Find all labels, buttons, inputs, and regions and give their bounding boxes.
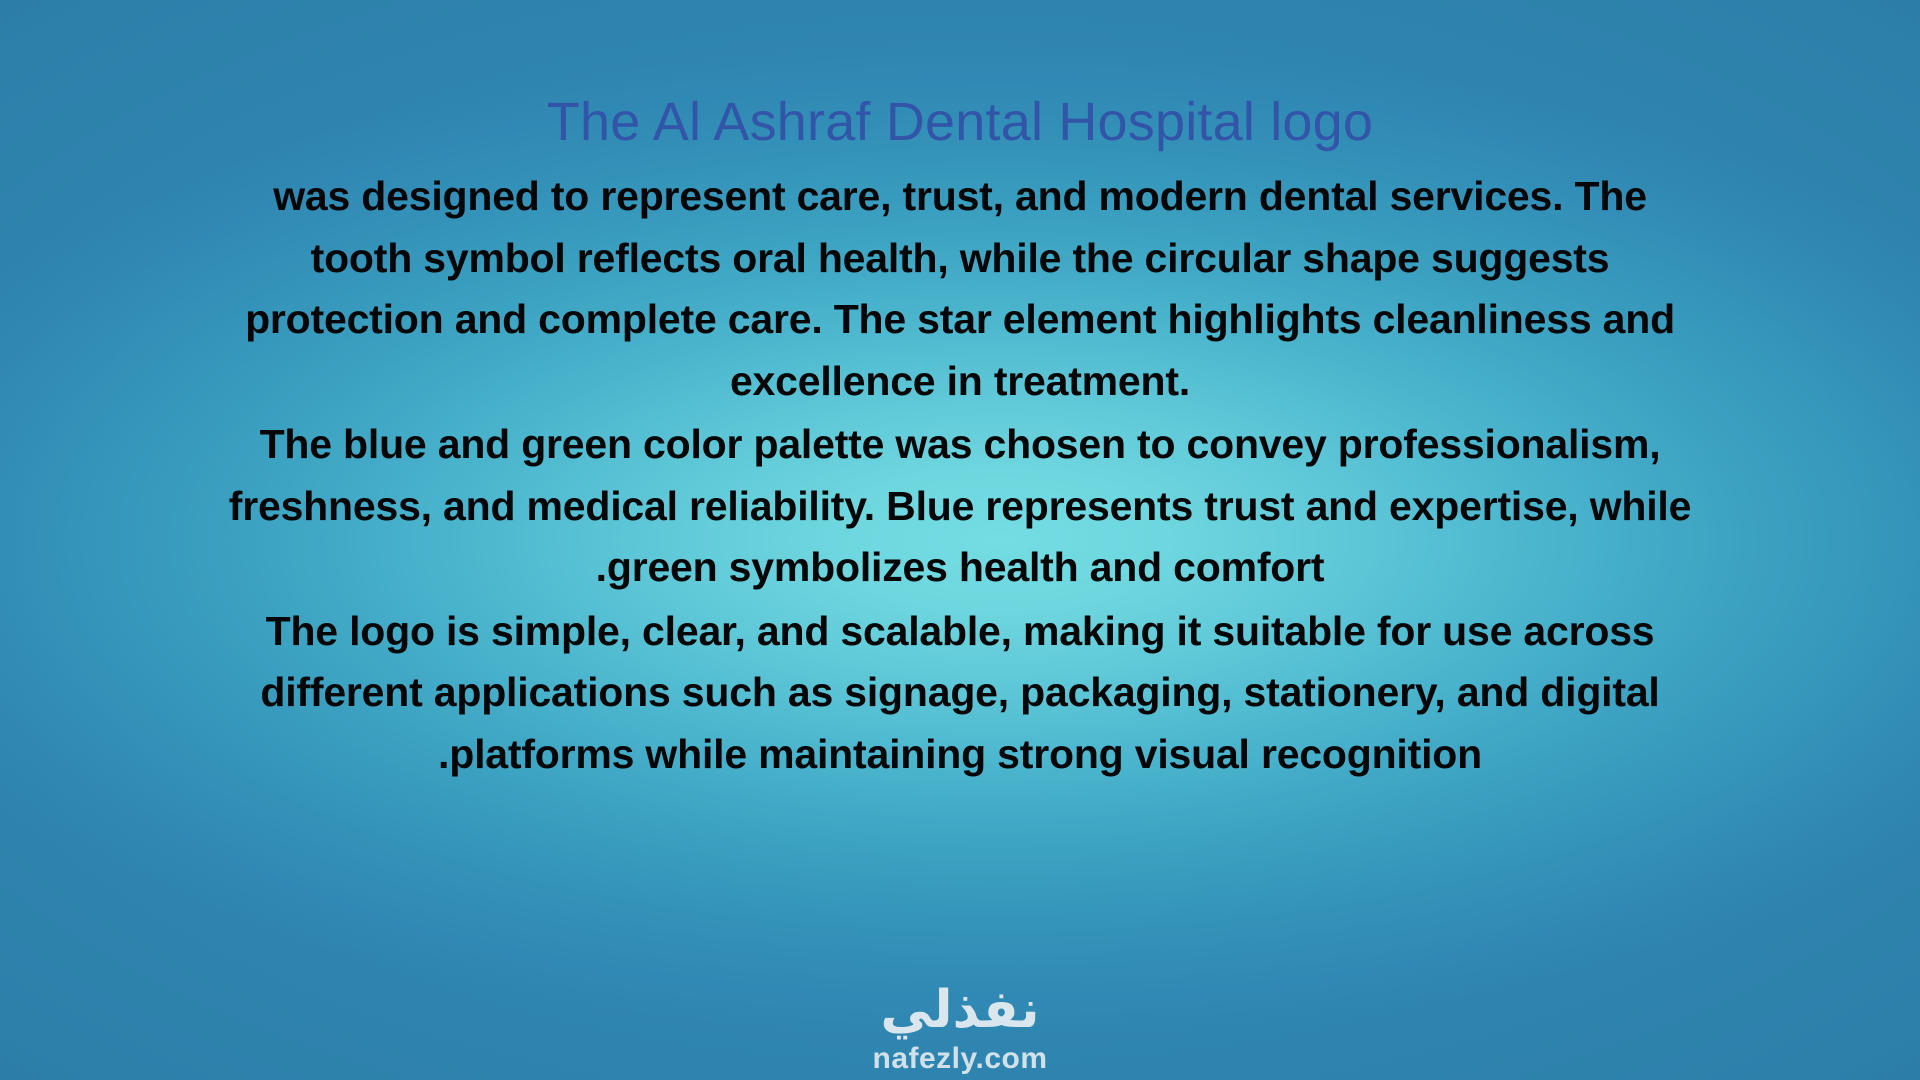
body-line: freshness, and medical reliability. Blue… xyxy=(26,476,1894,538)
body-line: was designed to represent care, trust, a… xyxy=(26,166,1894,228)
body-line: The blue and green color palette was cho… xyxy=(26,414,1894,476)
page-title: The Al Ashraf Dental Hospital logo xyxy=(26,92,1894,152)
body-line: .green symbolizes health and comfort xyxy=(26,537,1894,599)
slide-content: The Al Ashraf Dental Hospital logo was d… xyxy=(0,0,1920,1080)
body-line: tooth symbol reflects oral health, while… xyxy=(26,228,1894,290)
body-line: The logo is simple, clear, and scalable,… xyxy=(26,601,1894,663)
body-line: protection and complete care. The star e… xyxy=(26,289,1894,351)
paragraph-3: The logo is simple, clear, and scalable,… xyxy=(26,601,1894,786)
paragraph-1: was designed to represent care, trust, a… xyxy=(26,166,1894,412)
body-line: .platforms while maintaining strong visu… xyxy=(26,724,1894,786)
body-line: excellence in treatment. xyxy=(26,351,1894,413)
slide-canvas: The Al Ashraf Dental Hospital logo was d… xyxy=(0,0,1920,1080)
body-line: different applications such as signage, … xyxy=(26,662,1894,724)
paragraph-2: The blue and green color palette was cho… xyxy=(26,414,1894,599)
